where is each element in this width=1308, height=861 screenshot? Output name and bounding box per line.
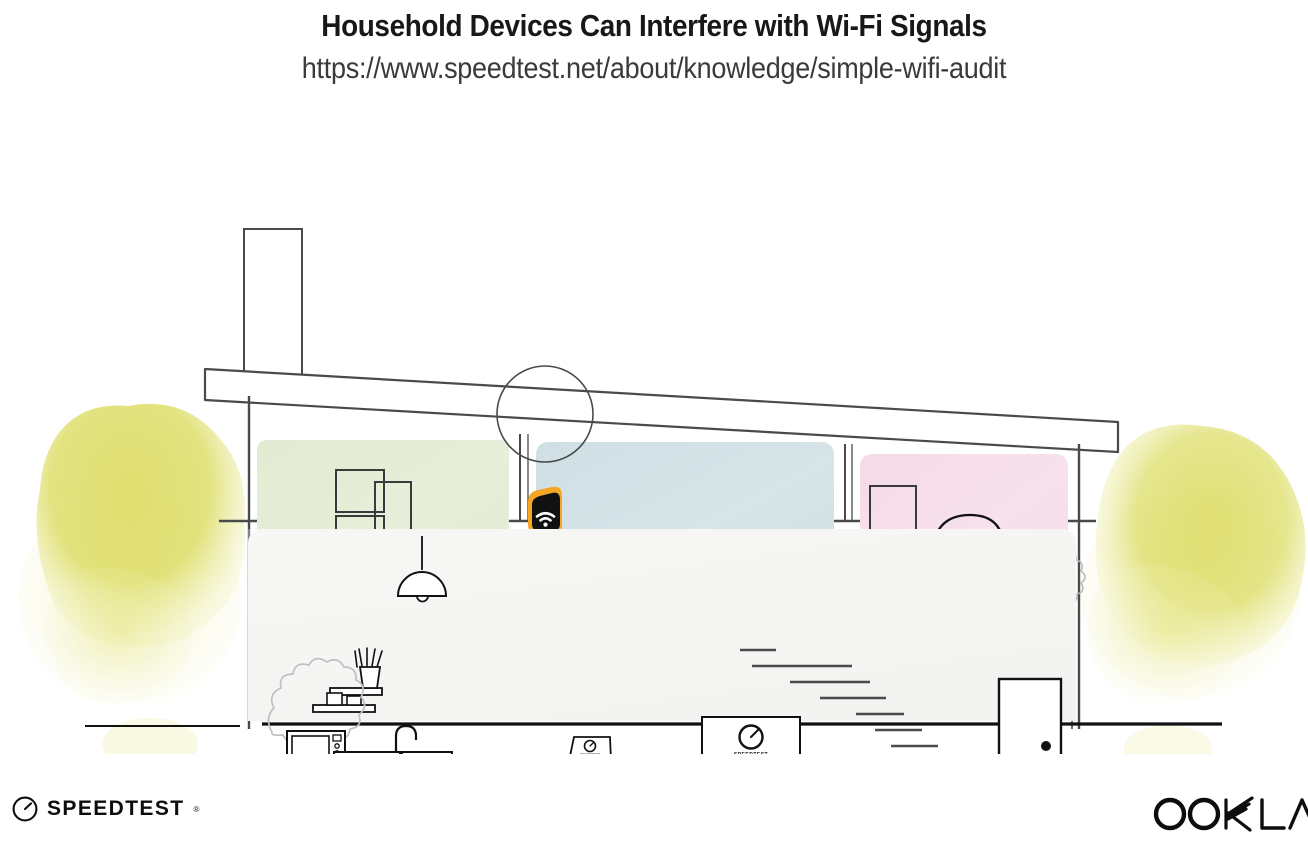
roof — [205, 369, 1118, 452]
page-root: Household Devices Can Interfere with Wi-… — [0, 0, 1308, 861]
television: SPEEDTEST — [702, 717, 800, 754]
door-knob-icon — [1041, 741, 1051, 751]
wifi-router[interactable] — [528, 487, 562, 534]
footer: SPEEDTEST ® — [0, 780, 1308, 852]
tv-logo-text: SPEEDTEST — [734, 752, 768, 754]
speedtest-logo[interactable]: SPEEDTEST ® — [12, 796, 199, 822]
ookla-logo[interactable] — [1150, 794, 1308, 834]
foliage-right — [1080, 425, 1306, 754]
room-ground-floor: SPEEDTEST — [248, 529, 1076, 754]
laptop-logo-text: SPEEDTEST — [580, 753, 601, 754]
wall-shelf-lower — [313, 705, 375, 712]
microwave — [287, 731, 345, 754]
speedtest-wordmark: SPEEDTEST — [47, 797, 184, 821]
front-door[interactable] — [999, 679, 1061, 754]
header: Household Devices Can Interfere with Wi-… — [0, 0, 1308, 86]
laptop: SPEEDTEST — [560, 737, 616, 754]
page-title: Household Devices Can Interfere with Wi-… — [65, 0, 1242, 44]
speedtest-registered-mark: ® — [193, 805, 199, 814]
kitchen-sink-faucet — [396, 726, 416, 752]
chimney — [244, 229, 302, 389]
foliage-left — [18, 404, 245, 754]
illustration-canvas: SPEEDTEST — [0, 104, 1308, 754]
speedtest-gauge-icon — [12, 796, 38, 822]
source-url: https://www.speedtest.net/about/knowledg… — [65, 44, 1242, 86]
ookla-wordmark-icon — [1150, 794, 1308, 834]
